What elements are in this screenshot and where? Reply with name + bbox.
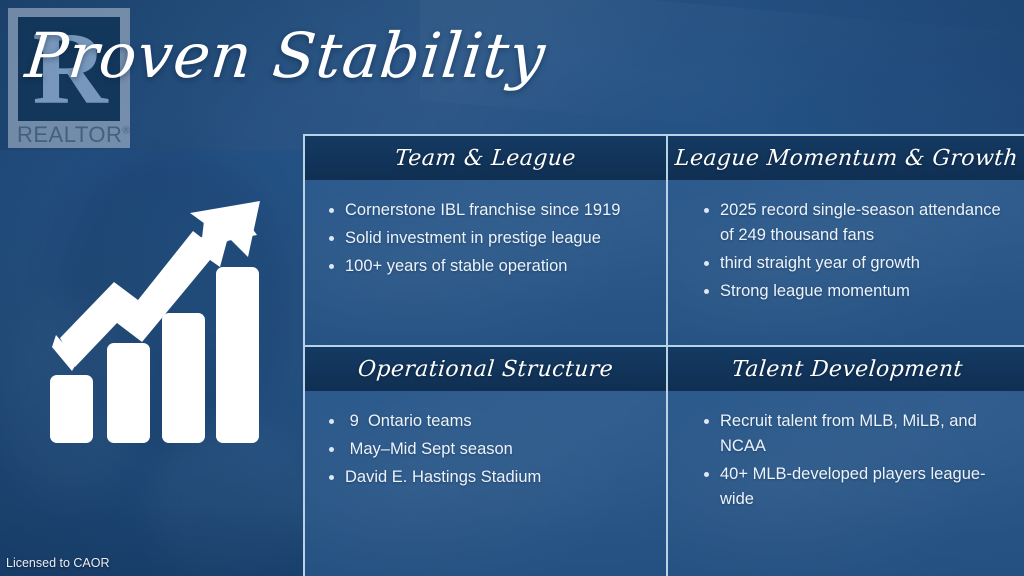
quadrant-title: Operational Structure xyxy=(357,357,614,382)
quadrant-body: 2025 record single-season attendance of … xyxy=(668,180,1024,345)
quadrant-talent-development: Talent Development Recruit talent from M… xyxy=(668,347,1024,576)
list-item: 9 Ontario teams xyxy=(327,409,652,434)
bullet-list: 9 Ontario teams May–Mid Sept season Davi… xyxy=(327,409,652,490)
bar-chart-growth-arrow-icon xyxy=(42,195,267,445)
bullet-list: 2025 record single-season attendance of … xyxy=(702,198,1012,304)
registered-trademark-icon: ® xyxy=(122,126,130,137)
quadrant-header: Team & League xyxy=(305,136,666,180)
quadrant-league-momentum-growth: League Momentum & Growth 2025 record sin… xyxy=(668,136,1024,347)
list-item: third straight year of growth xyxy=(702,251,1012,276)
realtor-wordmark-text: REALTOR xyxy=(17,122,122,147)
quadrant-header: League Momentum & Growth xyxy=(668,136,1024,180)
licensed-to-label: Licensed to CAOR xyxy=(6,556,110,570)
quadrant-header: Talent Development xyxy=(668,347,1024,391)
page-title: Proven Stability xyxy=(22,20,549,92)
list-item: Recruit talent from MLB, MiLB, and NCAA xyxy=(702,409,1012,459)
list-item: Cornerstone IBL franchise since 1919 xyxy=(327,198,652,223)
list-item: May–Mid Sept season xyxy=(327,437,652,462)
quadrant-title: League Momentum & Growth xyxy=(674,146,1019,171)
realtor-wordmark: REALTOR® xyxy=(17,122,125,148)
quadrant-team-league: Team & League Cornerstone IBL franchise … xyxy=(305,136,668,347)
bullet-list: Cornerstone IBL franchise since 1919 Sol… xyxy=(327,198,652,279)
quadrant-operational-structure: Operational Structure 9 Ontario teams Ma… xyxy=(305,347,668,576)
list-item: 100+ years of stable operation xyxy=(327,254,652,279)
quadrant-header: Operational Structure xyxy=(305,347,666,391)
quadrant-body: Cornerstone IBL franchise since 1919 Sol… xyxy=(305,180,666,345)
list-item: 40+ MLB-developed players league-wide xyxy=(702,462,1012,512)
quadrant-grid: Team & League Cornerstone IBL franchise … xyxy=(303,134,1024,576)
quadrant-title: Talent Development xyxy=(731,357,964,382)
list-item: David E. Hastings Stadium xyxy=(327,465,652,490)
quadrant-body: 9 Ontario teams May–Mid Sept season Davi… xyxy=(305,391,666,576)
quadrant-title: Team & League xyxy=(394,146,577,171)
slide-canvas: R REALTOR® Proven Stability xyxy=(0,0,1024,576)
quadrant-body: Recruit talent from MLB, MiLB, and NCAA … xyxy=(668,391,1024,576)
bullet-list: Recruit talent from MLB, MiLB, and NCAA … xyxy=(702,409,1012,512)
list-item: Solid investment in prestige league xyxy=(327,226,652,251)
list-item: Strong league momentum xyxy=(702,279,1012,304)
list-item: 2025 record single-season attendance of … xyxy=(702,198,1012,248)
